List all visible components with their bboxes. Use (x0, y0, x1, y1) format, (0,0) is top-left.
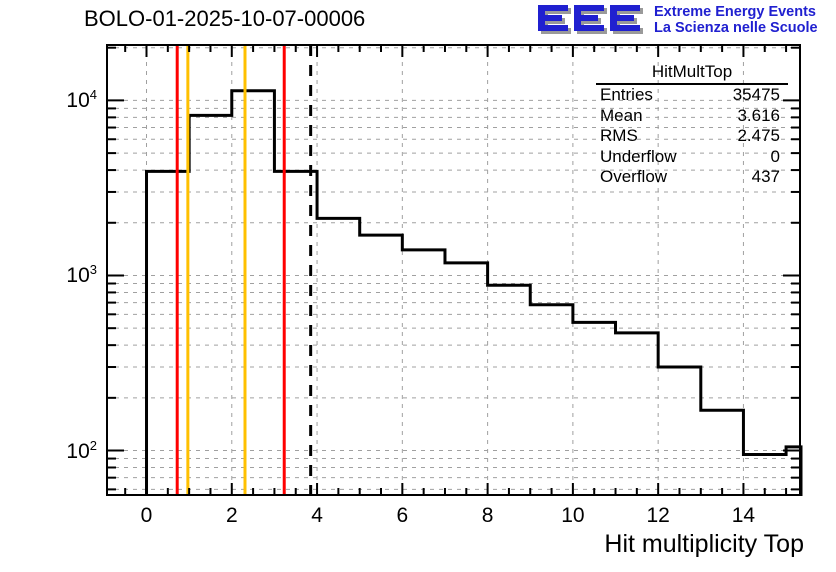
x-tick-label: 2 (226, 504, 238, 528)
x-tick-label: 10 (561, 504, 584, 528)
x-axis-title: Hit multiplicity Top (604, 530, 804, 559)
stats-row: Underflow0 (596, 147, 788, 168)
stats-row: Overflow437 (596, 167, 788, 188)
eee-logo-line1: Extreme Energy Events (654, 4, 818, 20)
stats-box: HitMultTop Entries35475Mean3.616RMS2.475… (596, 62, 788, 188)
eee-logo-text: Extreme Energy Events La Scienza nelle S… (654, 4, 818, 36)
page-title: BOLO-01-2025-10-07-00006 (84, 6, 365, 32)
eee-logo-line2: La Scienza nelle Scuole (654, 20, 818, 36)
root-canvas: BOLO-01-2025-10-07-00006 (0, 0, 836, 572)
x-tick-label: 14 (732, 504, 755, 528)
stats-row: Entries35475 (596, 85, 788, 106)
eee-logo-mark (536, 3, 648, 37)
stats-box-rows: Entries35475Mean3.616RMS2.475Underflow0O… (596, 85, 788, 188)
stats-row-label: Overflow (596, 167, 667, 188)
y-tick-label: 103 (66, 262, 97, 288)
stats-row-value: 2.475 (737, 126, 788, 147)
y-tick-label: 104 (66, 87, 97, 113)
stats-row: Mean3.616 (596, 106, 788, 127)
stats-row-value: 3.616 (737, 106, 788, 127)
x-tick-label: 6 (396, 504, 408, 528)
x-tick-label: 4 (311, 504, 323, 528)
x-tick-label: 12 (646, 504, 669, 528)
stats-row-value: 437 (752, 167, 788, 188)
stats-row: RMS2.475 (596, 126, 788, 147)
y-tick-label: 102 (66, 438, 97, 464)
stats-row-label: Mean (596, 106, 643, 127)
stats-row-value: 35475 (733, 85, 788, 106)
stats-box-title: HitMultTop (596, 62, 788, 85)
stats-row-value: 0 (771, 147, 788, 168)
x-tick-label: 0 (141, 504, 153, 528)
eee-logo: Extreme Energy Events La Scienza nelle S… (536, 2, 832, 40)
x-tick-label: 8 (482, 504, 494, 528)
stats-row-label: Entries (596, 85, 653, 106)
stats-row-label: Underflow (596, 147, 677, 168)
stats-row-label: RMS (596, 126, 638, 147)
